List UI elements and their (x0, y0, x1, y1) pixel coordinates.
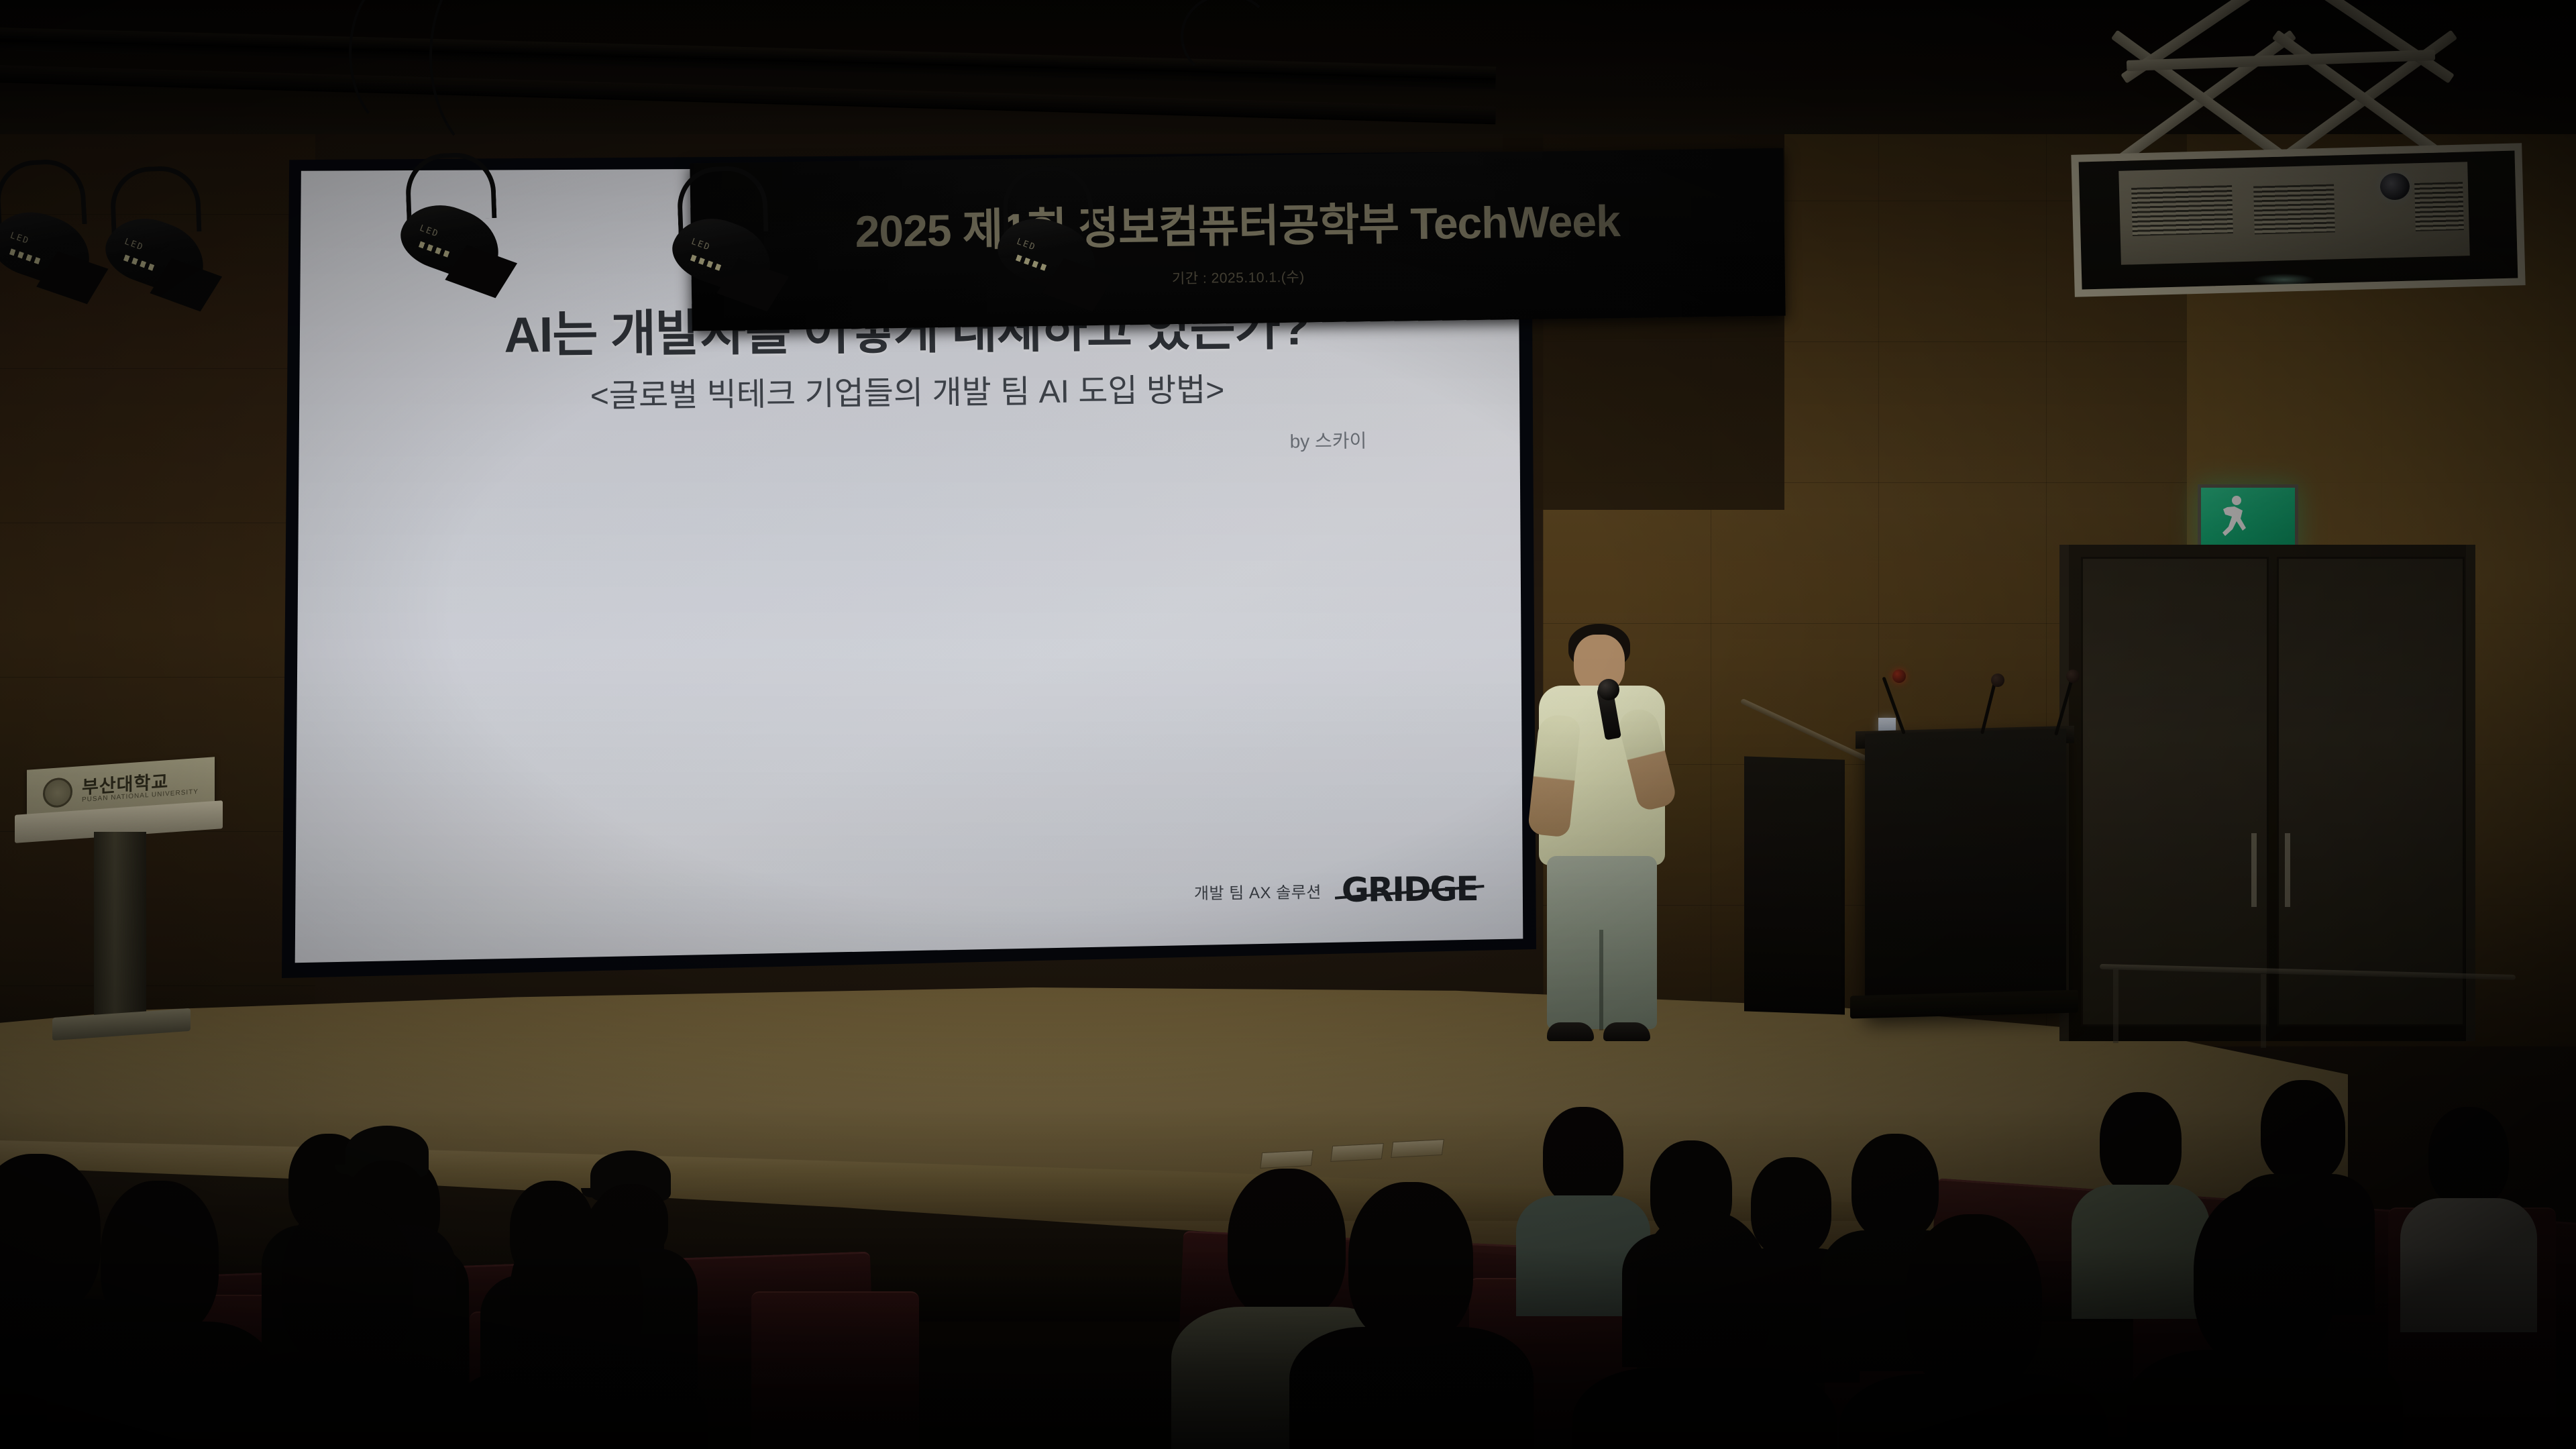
scissor-lift-arm (2127, 50, 2435, 71)
seat-back[interactable] (751, 1291, 919, 1449)
microphone-head-icon (1598, 679, 1619, 700)
presenter (1515, 614, 1689, 1077)
ceiling-projector-rig (2053, 7, 2516, 315)
handrail-post (2113, 969, 2118, 1043)
emergency-exit-sign (2198, 484, 2298, 554)
slide-footer-tagline: 개발 팀 AX 솔루션 (1194, 879, 1322, 904)
slide-subtitle: <글로벌 빅테크 기업들의 개발 팀 AI 도입 방법> (290, 360, 1524, 419)
projector-vent (2253, 184, 2335, 234)
stage-floor-plate (1260, 1150, 1313, 1169)
stage-spotlight-icon: LED (984, 199, 1122, 325)
banner-title: 2025 제1회 정보컴퓨터공학부 TechWeek (690, 183, 1784, 263)
scissor-lift-arm (2282, 0, 2455, 84)
microphone-head-icon (1892, 669, 1906, 683)
gridge-logo: GRIDGE (1339, 869, 1481, 910)
auditorium-scene: AI는 개발자를 어떻게 대체하고 있는가? <글로벌 빅테크 기업들의 개발 … (0, 0, 2576, 1449)
presenter-shoe-right (1603, 1022, 1650, 1041)
stage-spotlight-icon: LED (659, 199, 797, 325)
stage-floor-plate (1330, 1143, 1384, 1162)
banner-subtitle: 기간 : 2025.10.1.(수) (692, 260, 1785, 295)
microphone-head-icon (1991, 674, 2004, 687)
projector-vent (2414, 182, 2464, 231)
door-leaf-right[interactable] (2277, 557, 2465, 1026)
scissor-lift-arm (2121, 0, 2294, 84)
slide-footer: 개발 팀 AX 솔루션 GRIDGE (1194, 869, 1481, 911)
door-handle-icon[interactable] (2285, 833, 2290, 907)
event-banner: 2025 제1회 정보컴퓨터공학부 TechWeek 기간 : 2025.10.… (690, 148, 1785, 331)
handrail-post (2261, 974, 2266, 1048)
stage-spotlight-icon: LED (92, 199, 230, 325)
stage-floor-plate (1391, 1139, 1444, 1158)
podium-foot (52, 1008, 191, 1040)
door-leaf-left[interactable] (2081, 557, 2269, 1026)
podium-column (94, 832, 146, 1021)
door-handle-icon[interactable] (2251, 833, 2257, 907)
microphone-head-icon (2066, 669, 2080, 683)
stage-spotlight-icon: LED (387, 186, 525, 311)
slide-byline: by 스카이 (1289, 426, 1366, 453)
projector-vent (2131, 185, 2233, 236)
pnu-seal-icon (43, 777, 72, 808)
presenter-shoe-left (1547, 1022, 1594, 1041)
university-podium: 부산대학교 PUSAN NATIONAL UNIVERSITY (15, 792, 223, 1060)
running-person-icon (2218, 494, 2257, 543)
av-equipment-rack (1744, 756, 1845, 1014)
presenter-leg-divide (1599, 930, 1603, 1030)
lectern (1865, 729, 2066, 1016)
projector-status-glow (2254, 274, 2314, 286)
